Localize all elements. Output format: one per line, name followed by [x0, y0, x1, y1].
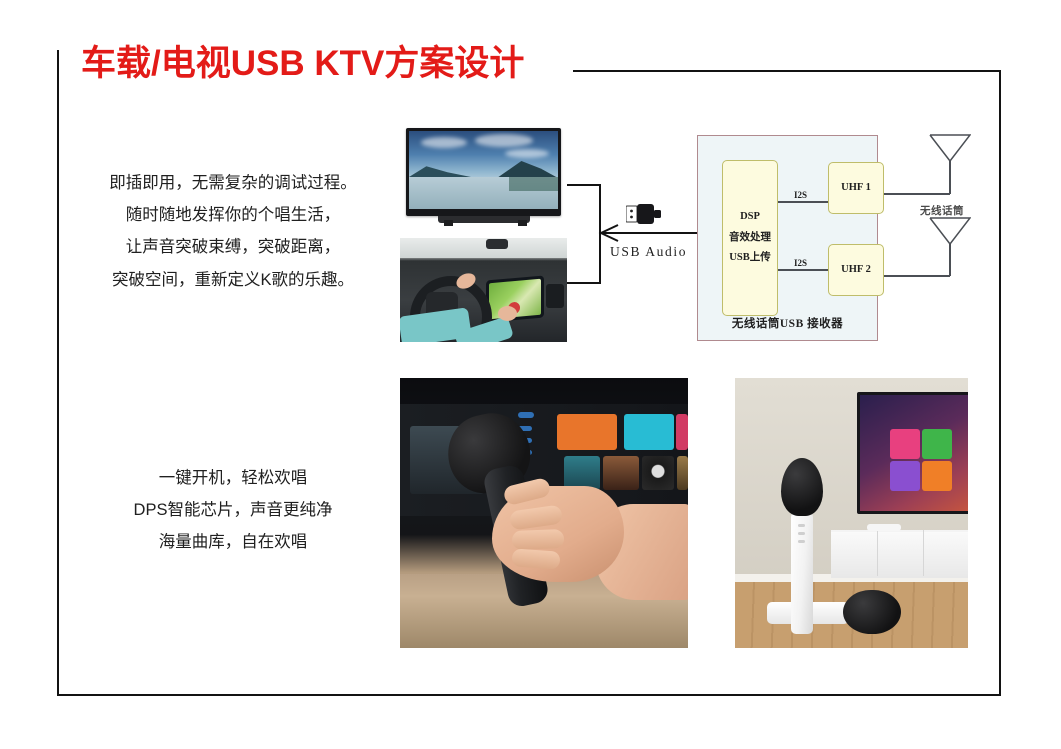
tv-tile	[890, 429, 920, 459]
i2s-label-2: I2S	[794, 258, 807, 268]
nav-item	[518, 412, 534, 418]
content-tile	[603, 456, 639, 490]
car-dashboard-photo	[400, 238, 567, 342]
slide-canvas: 车载/电视USB KTV方案设计 即插即用，无需复杂的调试过程。 随时随地发挥你…	[0, 0, 1061, 749]
tv-tile	[890, 461, 920, 491]
feature-copy-bottom: 一键开机，轻松欢唱 DPS智能芯片，声音更纯净 海量曲库，自在欢唱	[78, 462, 388, 559]
microphone-foam-head-lying	[843, 590, 901, 634]
uhf2-antenna-line	[884, 275, 950, 277]
mics-living-room-photo	[735, 378, 968, 648]
content-tile	[624, 414, 674, 450]
car-windshield	[400, 238, 567, 258]
copy-line: 随时随地发挥你的个唱生活，	[78, 199, 388, 231]
copy-line: 一键开机，轻松欢唱	[78, 462, 388, 494]
living-room-tv	[857, 392, 968, 514]
finger	[511, 548, 560, 569]
frame-top-border	[573, 70, 1001, 72]
dsp-line-3: USB上传	[729, 248, 770, 268]
remote-control	[867, 524, 901, 531]
mic-button	[798, 532, 805, 535]
uhf2-label: UHF 2	[841, 260, 871, 280]
content-tile	[677, 456, 688, 490]
mic-button	[798, 524, 805, 527]
rearview-mirror	[486, 239, 508, 249]
mic-in-car-photo	[400, 378, 688, 648]
uhf1-antenna-line	[884, 193, 950, 195]
dsp-block: DSP 音效处理 USB上传	[722, 160, 778, 316]
page-title: 车载/电视USB KTV方案设计	[81, 44, 524, 84]
antenna-icon-1	[929, 133, 971, 177]
cloud-shape	[475, 134, 533, 147]
mic-button	[798, 540, 805, 543]
finger	[512, 529, 565, 550]
i2s-line-1	[778, 201, 828, 203]
uhf2-block: UHF 2	[828, 244, 884, 296]
air-vent	[546, 284, 564, 308]
driver-hand	[498, 306, 517, 321]
car-link-line	[567, 282, 601, 284]
tv-tile	[922, 429, 952, 459]
dsp-line-1: DSP	[740, 207, 760, 227]
content-tile	[557, 414, 617, 450]
usb-audio-arrow-icon	[598, 222, 620, 244]
cloud-shape	[505, 149, 549, 158]
frame-bottom-border	[57, 694, 1001, 696]
feature-copy-top: 即插即用，无需复杂的调试过程。 随时随地发挥你的个唱生活， 让声音突破束缚，突破…	[78, 167, 388, 296]
mountain-shape	[409, 165, 471, 177]
usb-connector-icon	[626, 203, 662, 225]
content-tile	[676, 414, 688, 450]
mountain-shape	[497, 161, 558, 178]
cabinet-divider	[877, 530, 878, 576]
copy-line: 让声音突破束缚，突破距离，	[78, 231, 388, 263]
uhf1-label: UHF 1	[841, 178, 871, 198]
content-tile	[642, 456, 674, 490]
water-reflection	[509, 177, 558, 191]
i2s-label-1: I2S	[794, 190, 807, 200]
cloud-shape	[421, 137, 467, 148]
usb-audio-label: USB Audio	[610, 244, 687, 260]
frame-right-border	[999, 70, 1001, 696]
tv-link-line	[567, 184, 601, 186]
tv-foot	[518, 220, 527, 226]
tv-photo	[400, 126, 567, 232]
antenna-icon-2	[929, 216, 971, 260]
wireless-mic-label: 无线话筒	[920, 203, 964, 218]
microphone-foam-head-standing	[781, 458, 823, 516]
i2s-line-2	[778, 269, 828, 271]
copy-line: 即插即用，无需复杂的调试过程。	[78, 167, 388, 199]
microphone-body-standing	[791, 512, 813, 634]
content-tile	[564, 456, 600, 490]
tv-cabinet	[831, 530, 968, 578]
dsp-line-2: 音效处理	[729, 228, 771, 248]
tv-screen	[409, 131, 558, 209]
copy-line: DPS智能芯片，声音更纯净	[78, 494, 388, 526]
cabinet-divider	[923, 530, 924, 576]
uhf1-block: UHF 1	[828, 162, 884, 214]
tv-foot	[444, 220, 453, 226]
tv-tile	[922, 461, 952, 491]
receiver-panel-caption: 无线话筒USB 接收器	[697, 315, 878, 331]
copy-line: 突破空间，重新定义K歌的乐趣。	[78, 264, 388, 296]
copy-line: 海量曲库，自在欢唱	[78, 526, 388, 558]
frame-left-border	[57, 50, 59, 696]
